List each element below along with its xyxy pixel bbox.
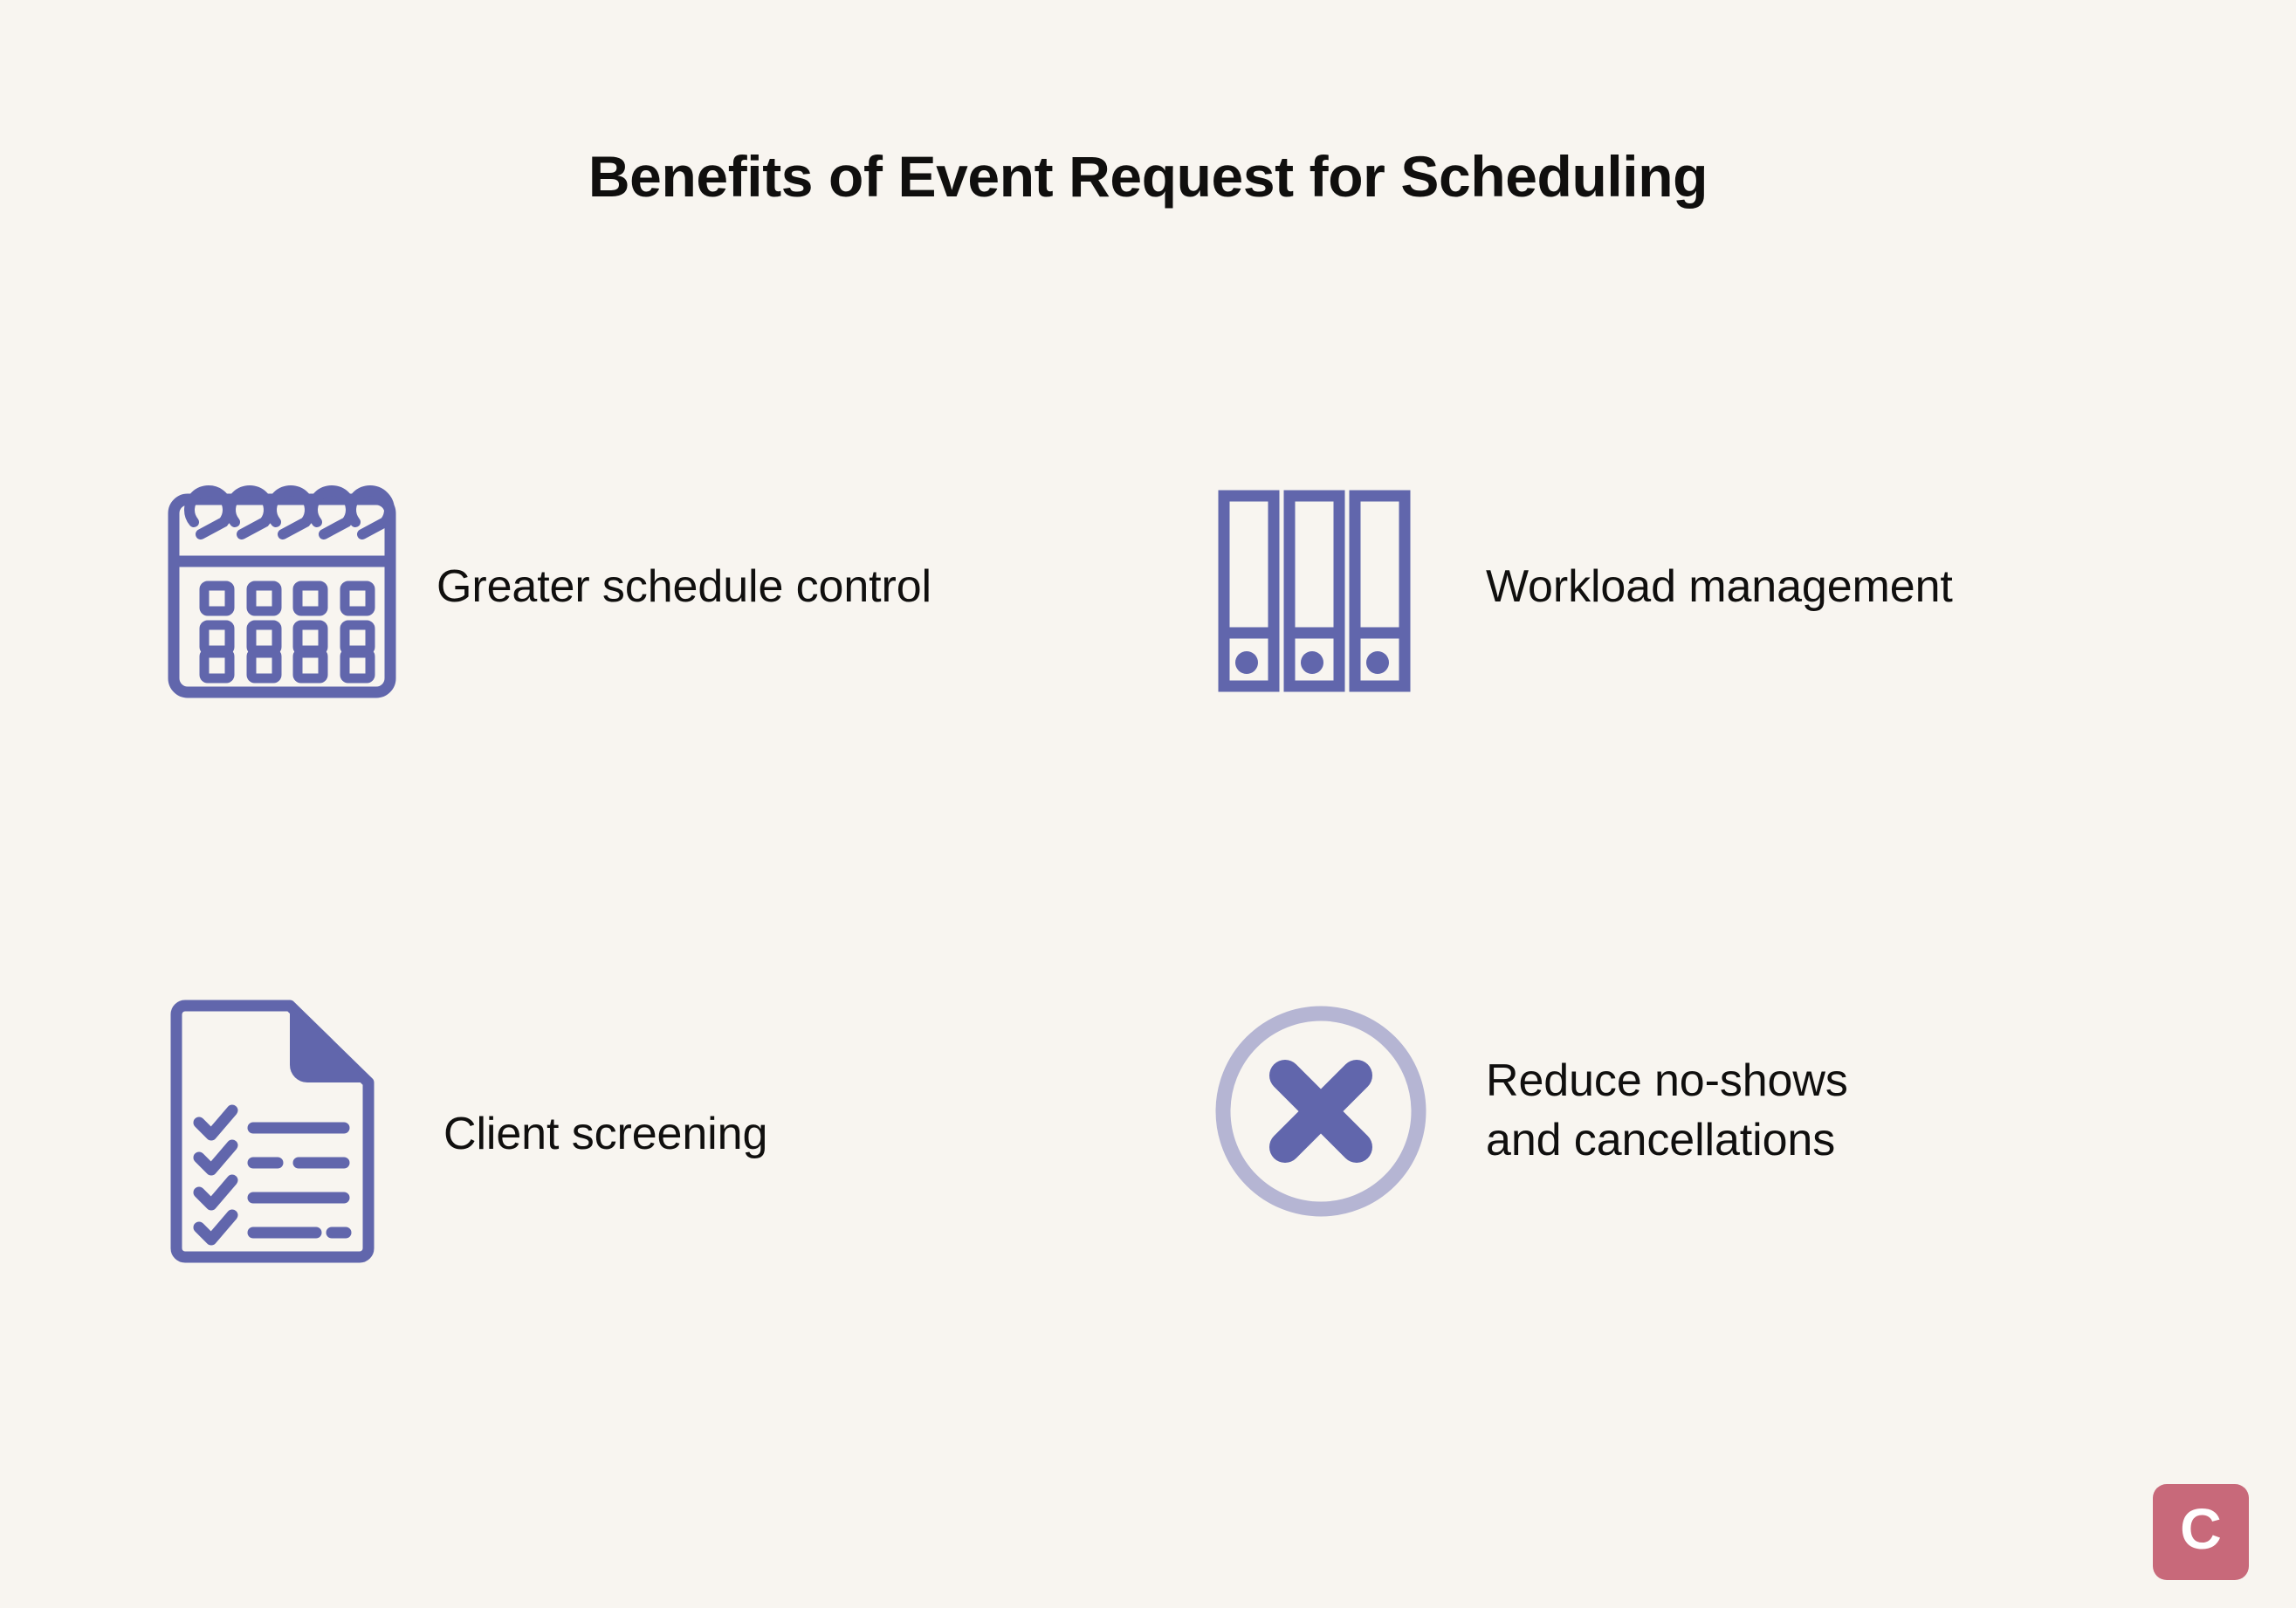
svg-text:C: C xyxy=(2180,1500,2222,1561)
circle-x-icon xyxy=(1205,995,1437,1227)
checklist-document-icon xyxy=(166,995,398,1275)
benefit-item-client-screening: Client screening xyxy=(166,995,767,1275)
benefit-item-workload-management: Workload management xyxy=(1205,471,1953,704)
calendar-icon xyxy=(166,471,398,704)
page-title: Benefits of Event Request for Scheduling xyxy=(0,147,2296,207)
brand-logo-letter: C xyxy=(2169,1500,2233,1564)
brand-logo: C xyxy=(2153,1484,2249,1580)
benefit-label: Reduce no-shows and cancellations xyxy=(1486,1052,1848,1170)
benefit-item-greater-schedule-control: Greater schedule control xyxy=(166,471,931,704)
benefit-item-reduce-no-shows: Reduce no-shows and cancellations xyxy=(1205,995,1848,1227)
benefits-grid: Greater schedule control xyxy=(0,454,2296,1397)
benefit-label: Greater schedule control xyxy=(437,558,931,617)
benefit-label: Client screening xyxy=(443,1105,767,1165)
infographic-canvas: Benefits of Event Request for Scheduling xyxy=(0,0,2296,1608)
benefit-label: Workload management xyxy=(1486,558,1953,617)
binders-icon xyxy=(1205,471,1437,704)
